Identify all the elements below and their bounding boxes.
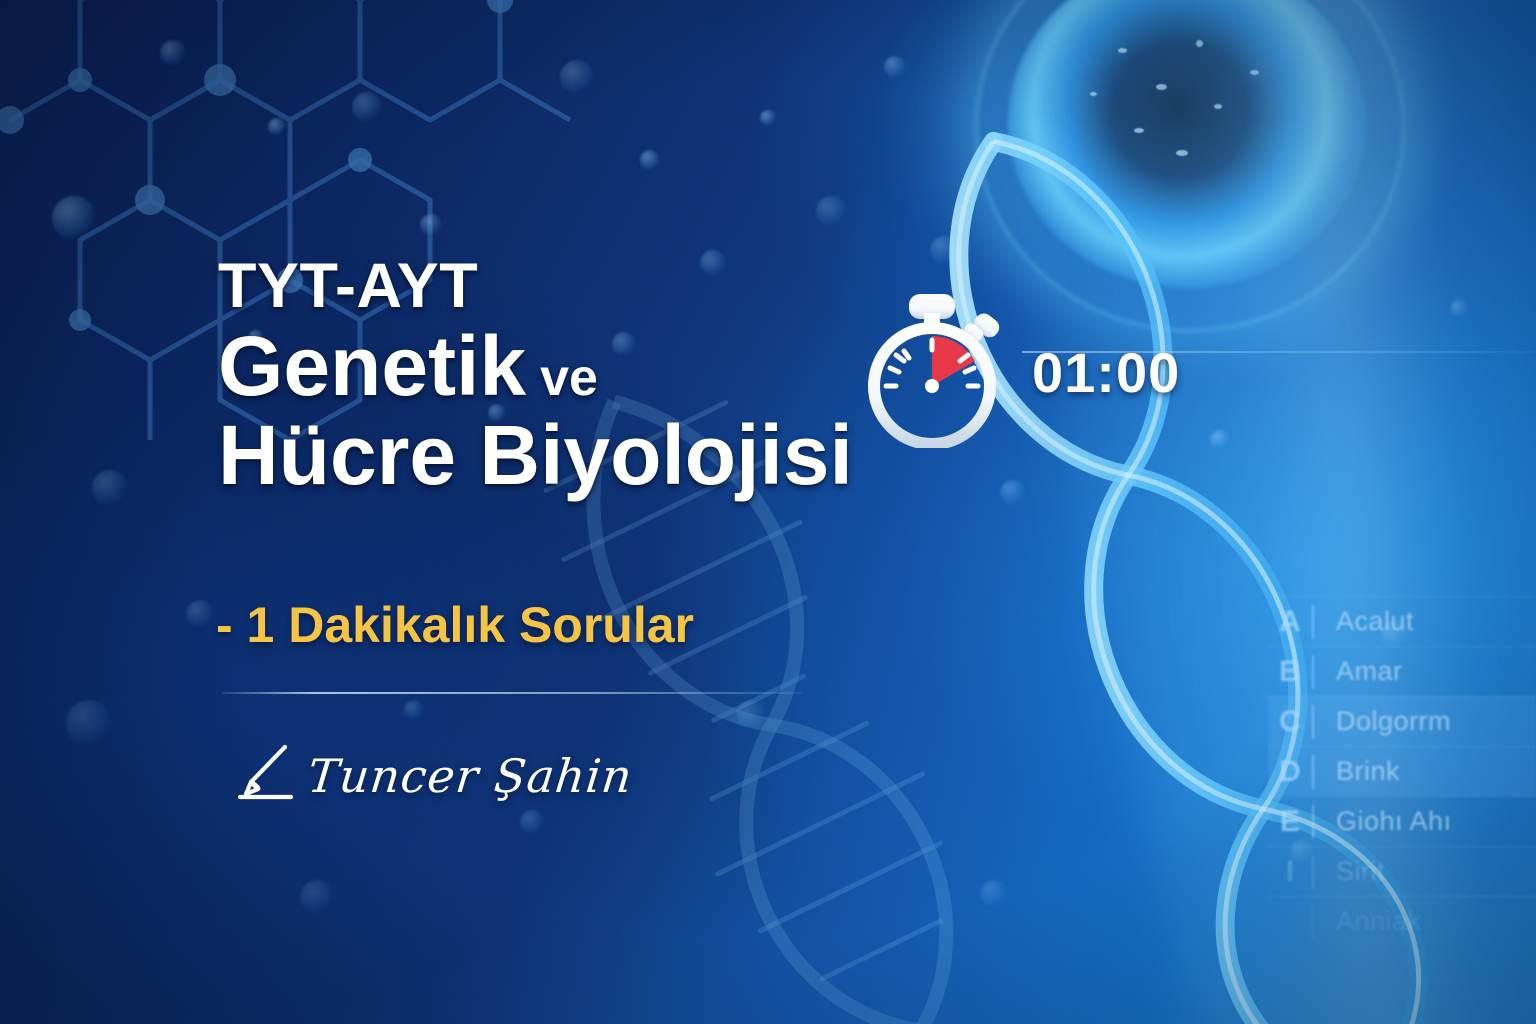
stopwatch-icon: [846, 292, 1018, 453]
option-letter: B: [1268, 655, 1312, 689]
option-label: Amar: [1336, 656, 1403, 687]
option-separator: [1312, 705, 1314, 739]
option-label: Anniak: [1336, 906, 1422, 937]
list-item[interactable]: A Acalut: [1268, 596, 1536, 646]
option-separator: [1312, 905, 1314, 939]
option-letter: C: [1268, 705, 1312, 739]
list-item[interactable]: C Dolgorrm: [1268, 696, 1536, 746]
title-main-small: ve: [540, 349, 598, 407]
list-item[interactable]: D Brink: [1268, 746, 1536, 796]
option-label: Brink: [1336, 756, 1400, 787]
page-subtitle: - 1 Dakikalık Sorular: [216, 596, 694, 654]
list-item[interactable]: B Amar: [1268, 646, 1536, 696]
author-signature: Tuncer Şahin: [236, 744, 632, 807]
author-name: Tuncer Şahin: [305, 749, 635, 803]
option-separator: [1312, 755, 1314, 789]
option-separator: [1312, 605, 1314, 639]
option-separator: [1312, 855, 1314, 889]
title-main-large: Genetik: [218, 319, 526, 413]
option-letter: I: [1268, 855, 1312, 889]
title-divider: [222, 692, 802, 694]
list-item[interactable]: E Giohı Ahı: [1268, 796, 1536, 846]
countdown-timer: 01:00: [846, 292, 1180, 453]
option-label: Giohı Ahı: [1336, 806, 1452, 837]
option-letter: D: [1268, 755, 1312, 789]
option-label: Dolgorrm: [1336, 706, 1451, 737]
option-separator: [1312, 805, 1314, 839]
pen-signature-icon: [236, 744, 298, 807]
timer-value: 01:00: [1032, 340, 1180, 405]
list-item[interactable]: I Sirit: [1268, 846, 1536, 896]
option-label: Acalut: [1336, 606, 1414, 637]
poster-canvas: TYT-AYT Genetikve Hücre Biyolojisi - 1 D…: [0, 0, 1536, 1024]
option-letter: A: [1268, 605, 1312, 639]
list-item[interactable]: Anniak: [1268, 896, 1536, 946]
option-label: Sirit: [1336, 856, 1385, 887]
option-separator: [1312, 655, 1314, 689]
answer-options-panel[interactable]: A Acalut B Amar C Dolgorrm D Brink E Gio…: [1268, 596, 1536, 946]
option-letter: E: [1268, 805, 1312, 839]
